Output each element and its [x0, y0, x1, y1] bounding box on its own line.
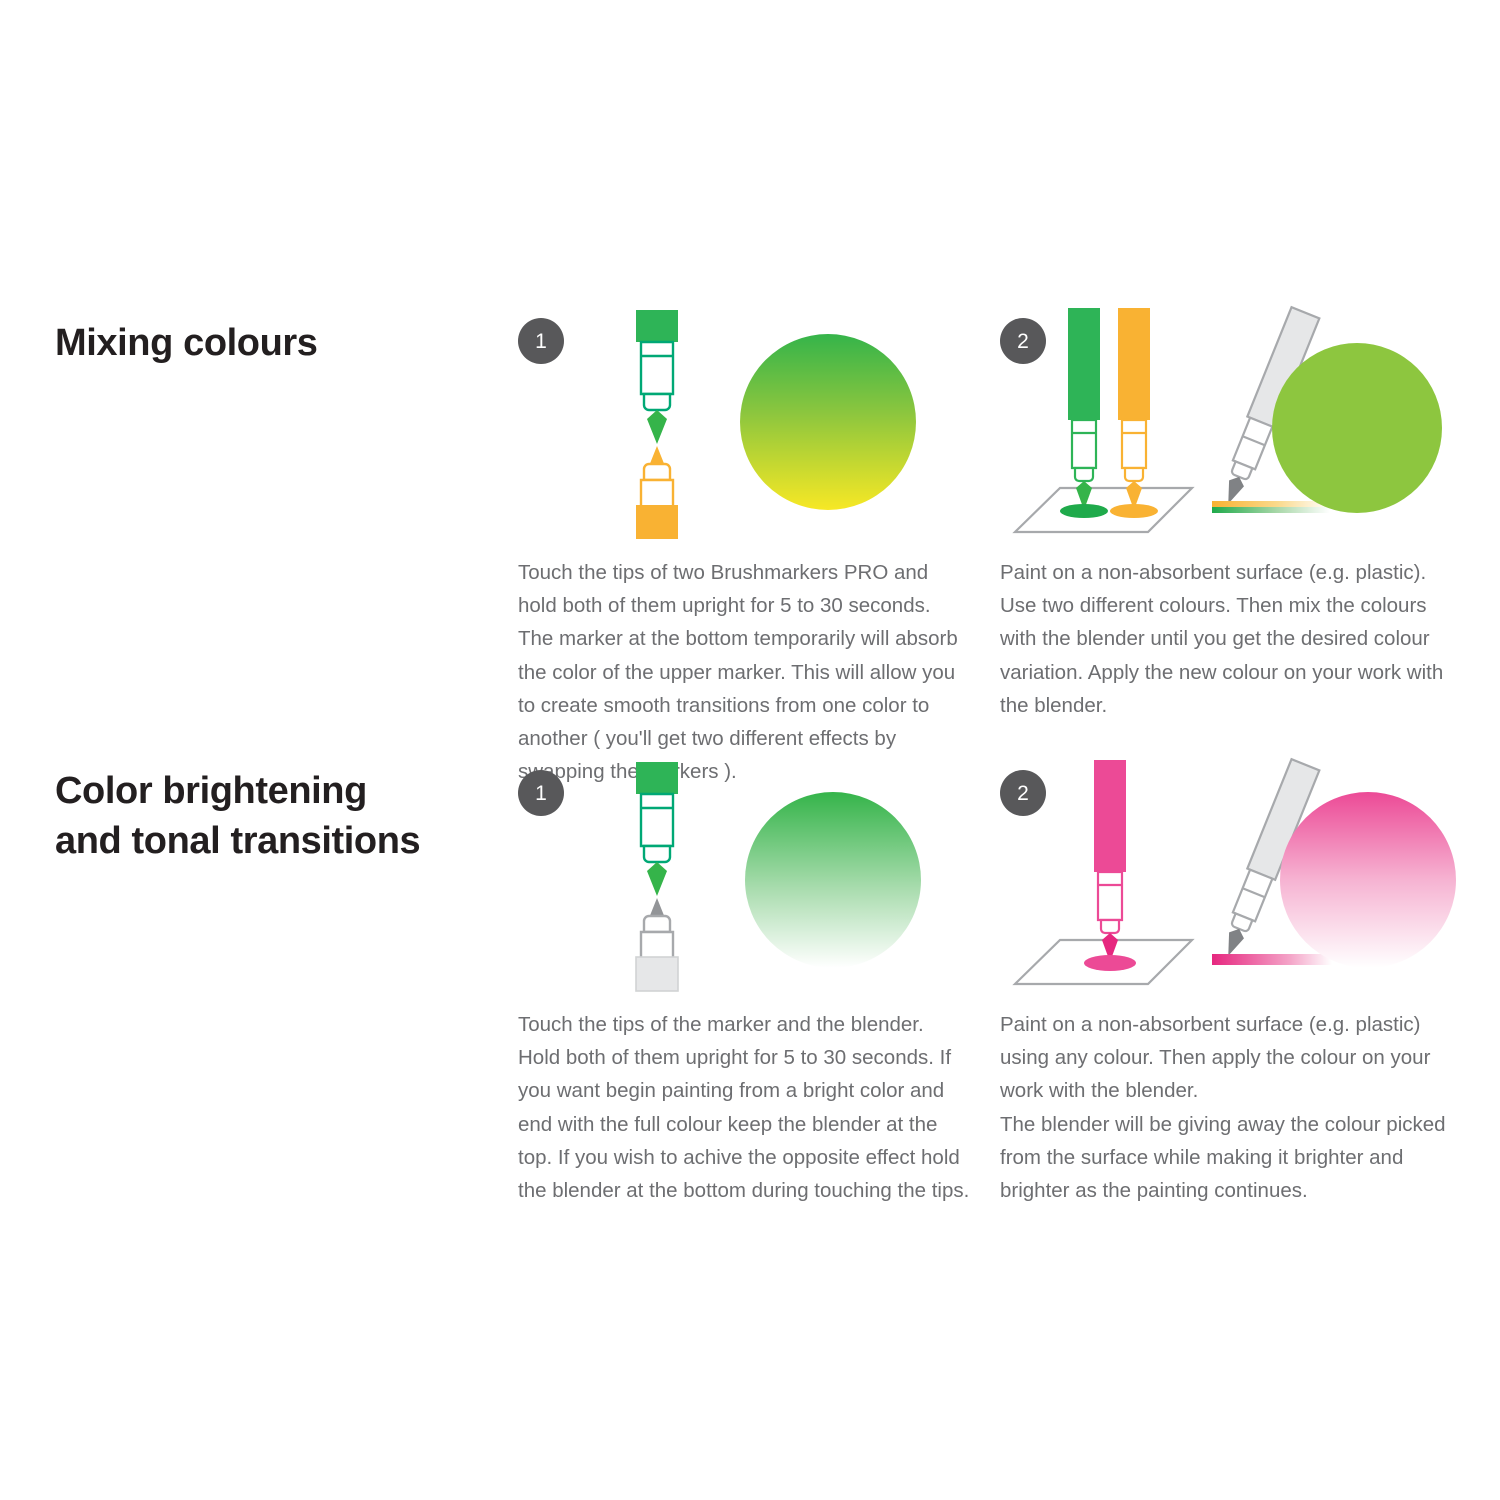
green-ink-blot	[1060, 504, 1108, 518]
swatch-lime-solid	[1272, 343, 1442, 513]
panel-brightening-step-2: 2	[1000, 752, 1470, 1207]
illustration-markers-and-swatch	[518, 300, 988, 550]
illustration-marker-blender-swatch	[518, 752, 988, 1002]
panel-brightening-step-1: 1	[518, 752, 988, 1207]
figure-marker-and-blender-tip-to-tip: 1	[518, 752, 988, 1002]
caption-brightening-step-2: Paint on a non-absorbent surface (e.g. p…	[1000, 1002, 1458, 1207]
swatch-pink-to-white	[1280, 792, 1456, 968]
blended-stroke-pink	[1212, 954, 1332, 965]
figure-two-markers-on-surface: 2	[1000, 300, 1470, 550]
caption-brightening-step-1: Touch the tips of the marker and the ble…	[518, 1002, 970, 1207]
green-marker-icon	[636, 310, 678, 444]
section-title-mixing-colours: Mixing colours	[55, 318, 318, 368]
swatch-green-to-yellow	[740, 334, 916, 510]
figure-two-markers-tip-to-tip: 1	[518, 300, 988, 550]
caption-mixing-step-2: Paint on a non-absorbent surface (e.g. p…	[1000, 550, 1458, 722]
illustration-surface-mixing	[1000, 300, 1470, 550]
blender-marker-icon	[636, 898, 678, 991]
orange-marker-icon	[636, 446, 678, 539]
pink-ink-blot	[1084, 955, 1136, 971]
document-page: Mixing colours Color brightening and ton…	[0, 0, 1500, 1500]
green-marker-icon	[636, 762, 678, 896]
panel-mixing-step-1: 1	[518, 300, 988, 788]
illustration-surface-brightening	[1000, 752, 1470, 1002]
green-marker-icon	[1060, 308, 1108, 518]
swatch-green-to-white	[745, 792, 921, 968]
blended-stroke-orange	[1212, 501, 1330, 507]
orange-marker-icon	[1110, 308, 1158, 518]
blended-stroke-green	[1212, 507, 1330, 513]
panel-mixing-step-2: 2	[1000, 300, 1470, 722]
figure-pink-marker-on-surface: 2	[1000, 752, 1470, 1002]
section-title-color-brightening: Color brightening and tonal transitions	[55, 766, 420, 866]
orange-ink-blot	[1110, 504, 1158, 518]
